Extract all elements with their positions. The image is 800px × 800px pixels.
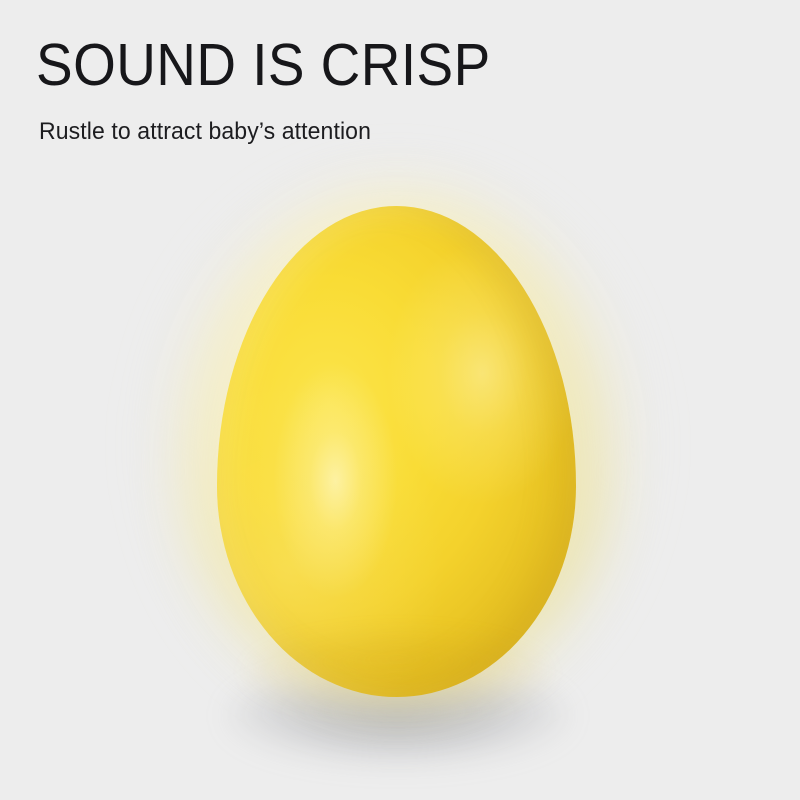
product-feature-panel: SOUND IS CRISP Rustle to attract baby’s …: [0, 0, 800, 800]
headline: SOUND IS CRISP: [36, 34, 491, 96]
subheadline: Rustle to attract baby’s attention: [39, 117, 371, 147]
